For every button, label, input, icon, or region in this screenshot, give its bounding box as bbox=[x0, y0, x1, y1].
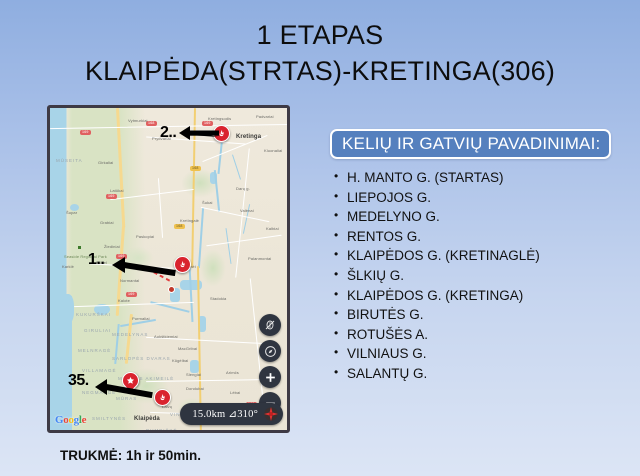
street-list-item: LIEPOJOS G. bbox=[330, 188, 620, 208]
map-marker-klaipeda[interactable] bbox=[154, 389, 171, 406]
map-place-label: Šukai bbox=[202, 200, 213, 205]
river bbox=[226, 228, 232, 264]
street-names-banner: KELIŲ IR GATVIŲ PAVADINIMAI: bbox=[330, 129, 611, 159]
street-list-item: SALANTŲ G. bbox=[330, 364, 620, 384]
map-place-label: Arimčs bbox=[226, 370, 239, 375]
map-place-label: Kretingsodis bbox=[208, 116, 231, 121]
map-place-label: SARLOPĖS DVARAS bbox=[112, 356, 171, 361]
title-line-2: KLAIPĖDA(STRTAS)-KRETINGA(306) bbox=[0, 54, 640, 90]
route-waypoint-dot bbox=[168, 286, 175, 293]
compass-rose-icon[interactable] bbox=[263, 406, 279, 422]
road-minor bbox=[206, 235, 281, 247]
map-place-label: MELNRAGĖ bbox=[78, 348, 111, 353]
map-place-label: Purmaliai bbox=[132, 316, 150, 321]
annotation-arrow-1 bbox=[110, 254, 176, 276]
compass-icon[interactable] bbox=[259, 340, 281, 362]
annotation-label-35: 35. bbox=[68, 372, 89, 390]
map-image[interactable]: 169 168 169 169 168 168 169 169 169 169 … bbox=[47, 105, 290, 433]
map-place-label: Girkaliai bbox=[98, 160, 113, 165]
annotation-arrow-2 bbox=[177, 124, 219, 142]
map-place-label: KUKURŠKAI bbox=[76, 312, 111, 317]
road-minor bbox=[201, 207, 270, 223]
map-place-label: Slengiai bbox=[186, 372, 201, 377]
river bbox=[232, 154, 241, 179]
map-place-label: Kretingalė bbox=[180, 218, 199, 223]
river bbox=[198, 208, 204, 268]
map-place-label: Karklė bbox=[62, 264, 74, 269]
map-place-label: Šupar bbox=[66, 210, 77, 215]
map-place-label: Valėnai bbox=[240, 208, 254, 213]
map-place-label: Žiediniai bbox=[104, 244, 120, 249]
google-logo: Google bbox=[55, 414, 86, 426]
map-place-label: Grabiai bbox=[100, 220, 114, 225]
street-list-item: KLAIPĖDOS G. (KRETINAGLĖ) bbox=[330, 246, 620, 266]
street-list-item: MEDELYNO G. bbox=[330, 207, 620, 227]
road-shield: 169 bbox=[80, 130, 91, 135]
road-shield: 168 bbox=[190, 166, 201, 171]
map-place-label: Kretinga bbox=[236, 134, 261, 140]
street-names-list: H. MANTO G. (STARTAS)LIEPOJOS G.MEDELYNO… bbox=[330, 168, 620, 384]
map-place-label: Palanmontai bbox=[248, 256, 271, 261]
map-place-label: MEDELYNAS bbox=[112, 332, 148, 337]
google-logo-letter: e bbox=[82, 414, 87, 426]
map-place-label: MacGribai bbox=[178, 346, 197, 351]
map-place-label: Kluonaliai bbox=[264, 148, 282, 153]
map-place-label: Klaipėda bbox=[134, 416, 160, 422]
river bbox=[189, 266, 194, 322]
map-place-label: Kalbiai bbox=[266, 226, 279, 231]
map-canvas[interactable]: 169 168 169 169 168 168 169 169 169 169 … bbox=[50, 108, 287, 430]
map-place-label: Lėbai bbox=[230, 390, 240, 395]
map-marker-midpoint[interactable] bbox=[174, 256, 191, 273]
duration-note: TRUKMĖ: 1h ir 50min. bbox=[60, 448, 201, 463]
map-place-label: Normantai bbox=[120, 278, 139, 283]
map-place-label: Aukštkiemiai bbox=[154, 334, 178, 339]
road-shield: 168 bbox=[174, 224, 185, 229]
map-place-label: Dondubai bbox=[186, 386, 204, 391]
traffic-off-icon[interactable] bbox=[259, 314, 281, 336]
road-shield: 169 bbox=[106, 194, 117, 199]
street-list-item: ROTUŠĖS A. bbox=[330, 325, 620, 345]
map-controls[interactable] bbox=[259, 314, 281, 414]
page-title: 1 ETAPAS KLAIPĖDA(STRTAS)-KRETINGA(306) bbox=[0, 18, 640, 89]
map-place-label: Darų g. bbox=[236, 186, 250, 191]
street-list-item: H. MANTO G. (STARTAS) bbox=[330, 168, 620, 188]
map-place-label: Latūkai bbox=[110, 188, 124, 193]
map-place-label: SMILTYNĖS bbox=[92, 416, 126, 421]
annotation-label-2: 2.. bbox=[160, 124, 176, 142]
street-list-item: KLAIPĖDOS G. (KRETINGA) bbox=[330, 286, 620, 306]
water-body bbox=[60, 294, 74, 324]
road-minor bbox=[158, 178, 163, 238]
map-place-label: RUMPIŠKĖ bbox=[146, 428, 178, 433]
map-place-label: GIRULIAI bbox=[84, 328, 111, 333]
map-place-label: Kūgėlbai bbox=[172, 358, 188, 363]
street-list-item: BIRUTĖS G. bbox=[330, 305, 620, 325]
map-status-bar: 15.0km ⊿310° bbox=[180, 403, 283, 425]
zoom-in-icon[interactable] bbox=[259, 366, 281, 388]
street-names-banner-label: KELIŲ IR GATVIŲ PAVADINIMAI: bbox=[342, 134, 600, 154]
map-place-label: Paskopiai bbox=[136, 234, 154, 239]
map-place-label: Padvariai bbox=[256, 114, 274, 119]
map-place-label: MŪSEITA bbox=[56, 158, 83, 163]
map-place-label: Stadokia bbox=[210, 296, 226, 301]
map-place-label: Vytmurkiai bbox=[128, 118, 148, 123]
annotation-arrow-35 bbox=[93, 376, 153, 398]
street-list-item: RENTOS G. bbox=[330, 227, 620, 247]
park-marker bbox=[78, 246, 81, 249]
street-list-item: ŠLKIŲ G. bbox=[330, 266, 620, 286]
annotation-label-1: 1.. bbox=[88, 251, 104, 269]
map-place-label: Kalote bbox=[118, 298, 130, 303]
street-list-item: VILNIAUS G. bbox=[330, 344, 620, 364]
map-status-text: 15.0km ⊿310° bbox=[192, 408, 258, 420]
road-shield: 169 bbox=[126, 292, 137, 297]
title-line-1: 1 ETAPAS bbox=[0, 18, 640, 54]
